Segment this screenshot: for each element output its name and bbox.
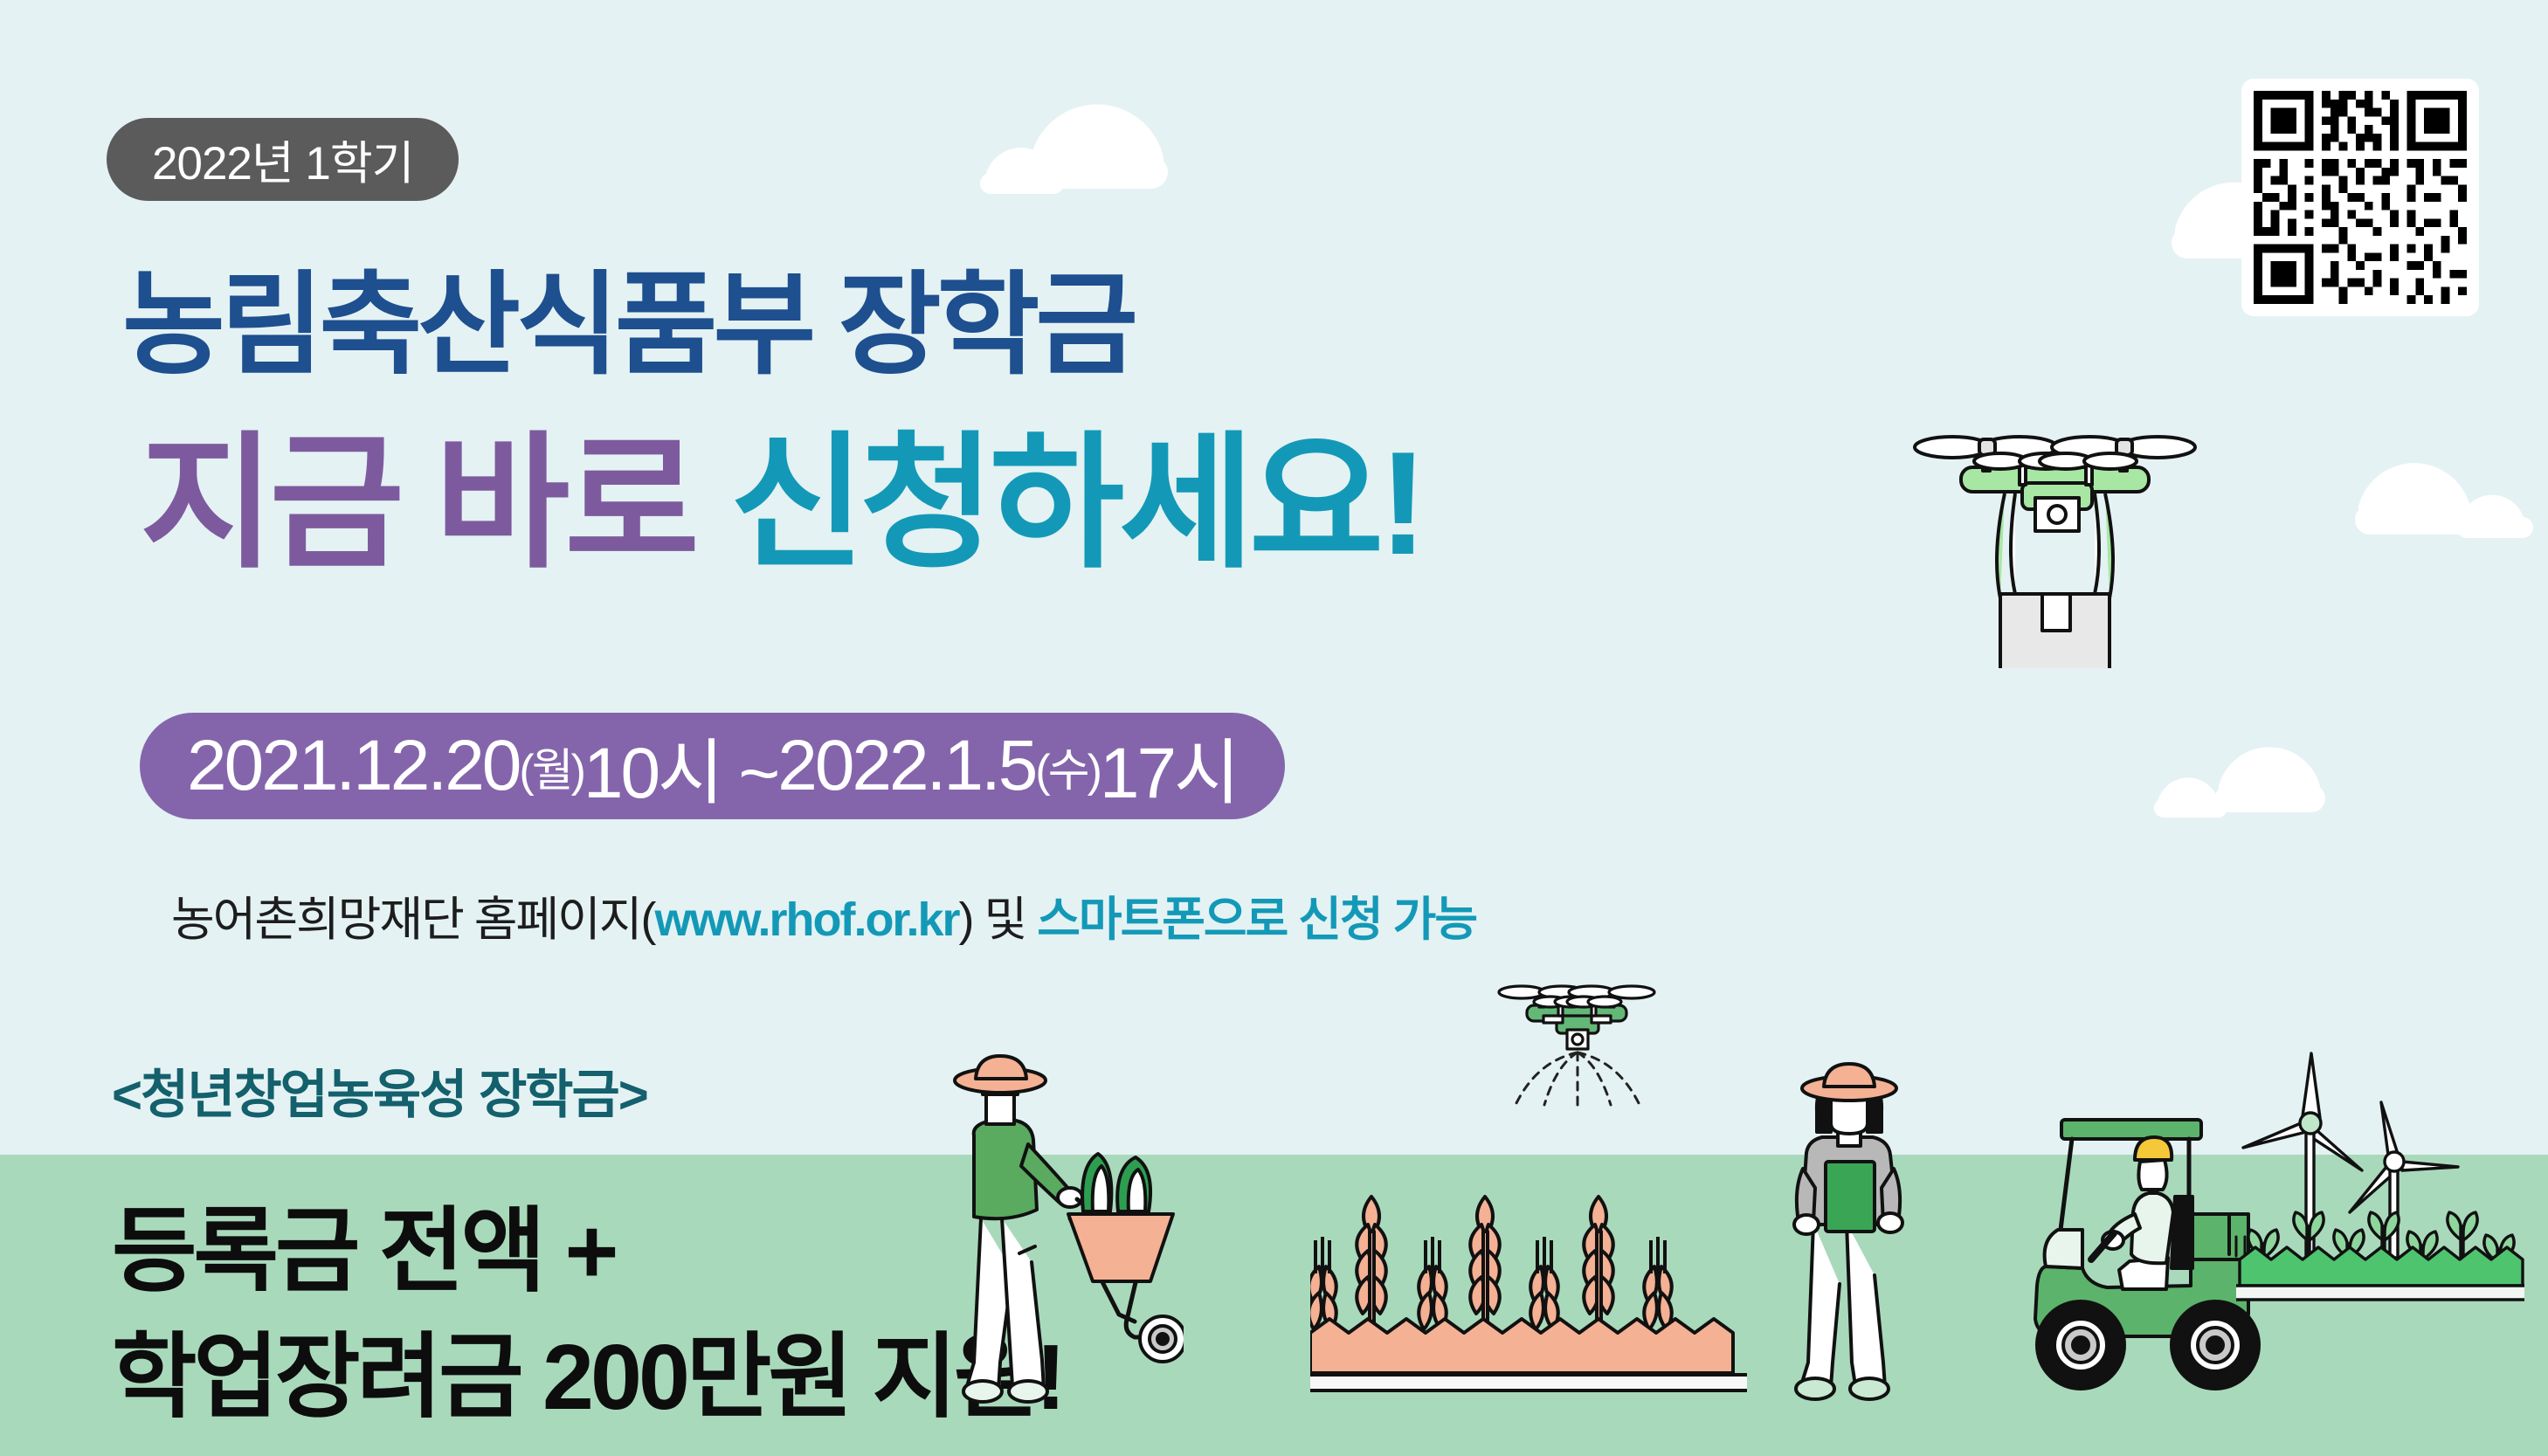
- start-time: 10시 ~: [583, 714, 777, 818]
- end-day: (수): [1035, 734, 1099, 799]
- delivery-drone-icon: [1887, 415, 2219, 668]
- end-date: 2022.1.5: [777, 725, 1035, 807]
- page-title: 농림축산식품부 장학금: [122, 234, 1134, 396]
- qr-code[interactable]: [2241, 79, 2479, 316]
- website-url[interactable]: www.rhof.or.kr: [654, 894, 958, 946]
- wheat-field-icon: [1310, 1170, 1747, 1406]
- headline-purple-part: 지금 바로: [140, 421, 730, 585]
- poster-banner: 2022년 1학기 농림축산식품부 장학금 지금 바로 신청하세요! 2021.…: [0, 0, 2548, 1456]
- semester-badge: 2022년 1학기: [107, 118, 459, 201]
- woman-with-clipboard-icon: [1764, 1057, 1939, 1406]
- benefit-line-2: 학업장려금 200만원 지원!: [112, 1301, 1063, 1436]
- smartphone-note: 스마트폰으로 신청 가능: [1037, 894, 1476, 946]
- application-period-pill: 2021.12.20(월) 10시 ~ 2022.1.5(수) 17시: [140, 713, 1285, 819]
- url-middle: ) 및: [959, 894, 1038, 946]
- wind-turbines-icon: [2236, 1039, 2524, 1336]
- page-subtitle: 지금 바로 신청하세요!: [140, 384, 1422, 597]
- start-day: (월): [519, 734, 583, 799]
- farmer-with-wheelbarrow-icon: [948, 1044, 1184, 1411]
- headline-teal-part: 신청하세요!: [730, 421, 1423, 585]
- spraying-drone-icon: [1485, 974, 1686, 1109]
- scholarship-category: <청년창업농육성 장학금>: [112, 1052, 647, 1128]
- start-date: 2021.12.20: [187, 725, 519, 807]
- end-time: 17시: [1100, 714, 1238, 818]
- benefit-line-1: 등록금 전액 +: [112, 1176, 615, 1310]
- application-channel-line: 농어촌희망재단 홈페이지(www.rhof.or.kr) 및 스마트폰으로 신청…: [171, 880, 1476, 949]
- qr-code-image: [2254, 91, 2467, 304]
- url-prefix: 농어촌희망재단 홈페이지(: [171, 894, 654, 946]
